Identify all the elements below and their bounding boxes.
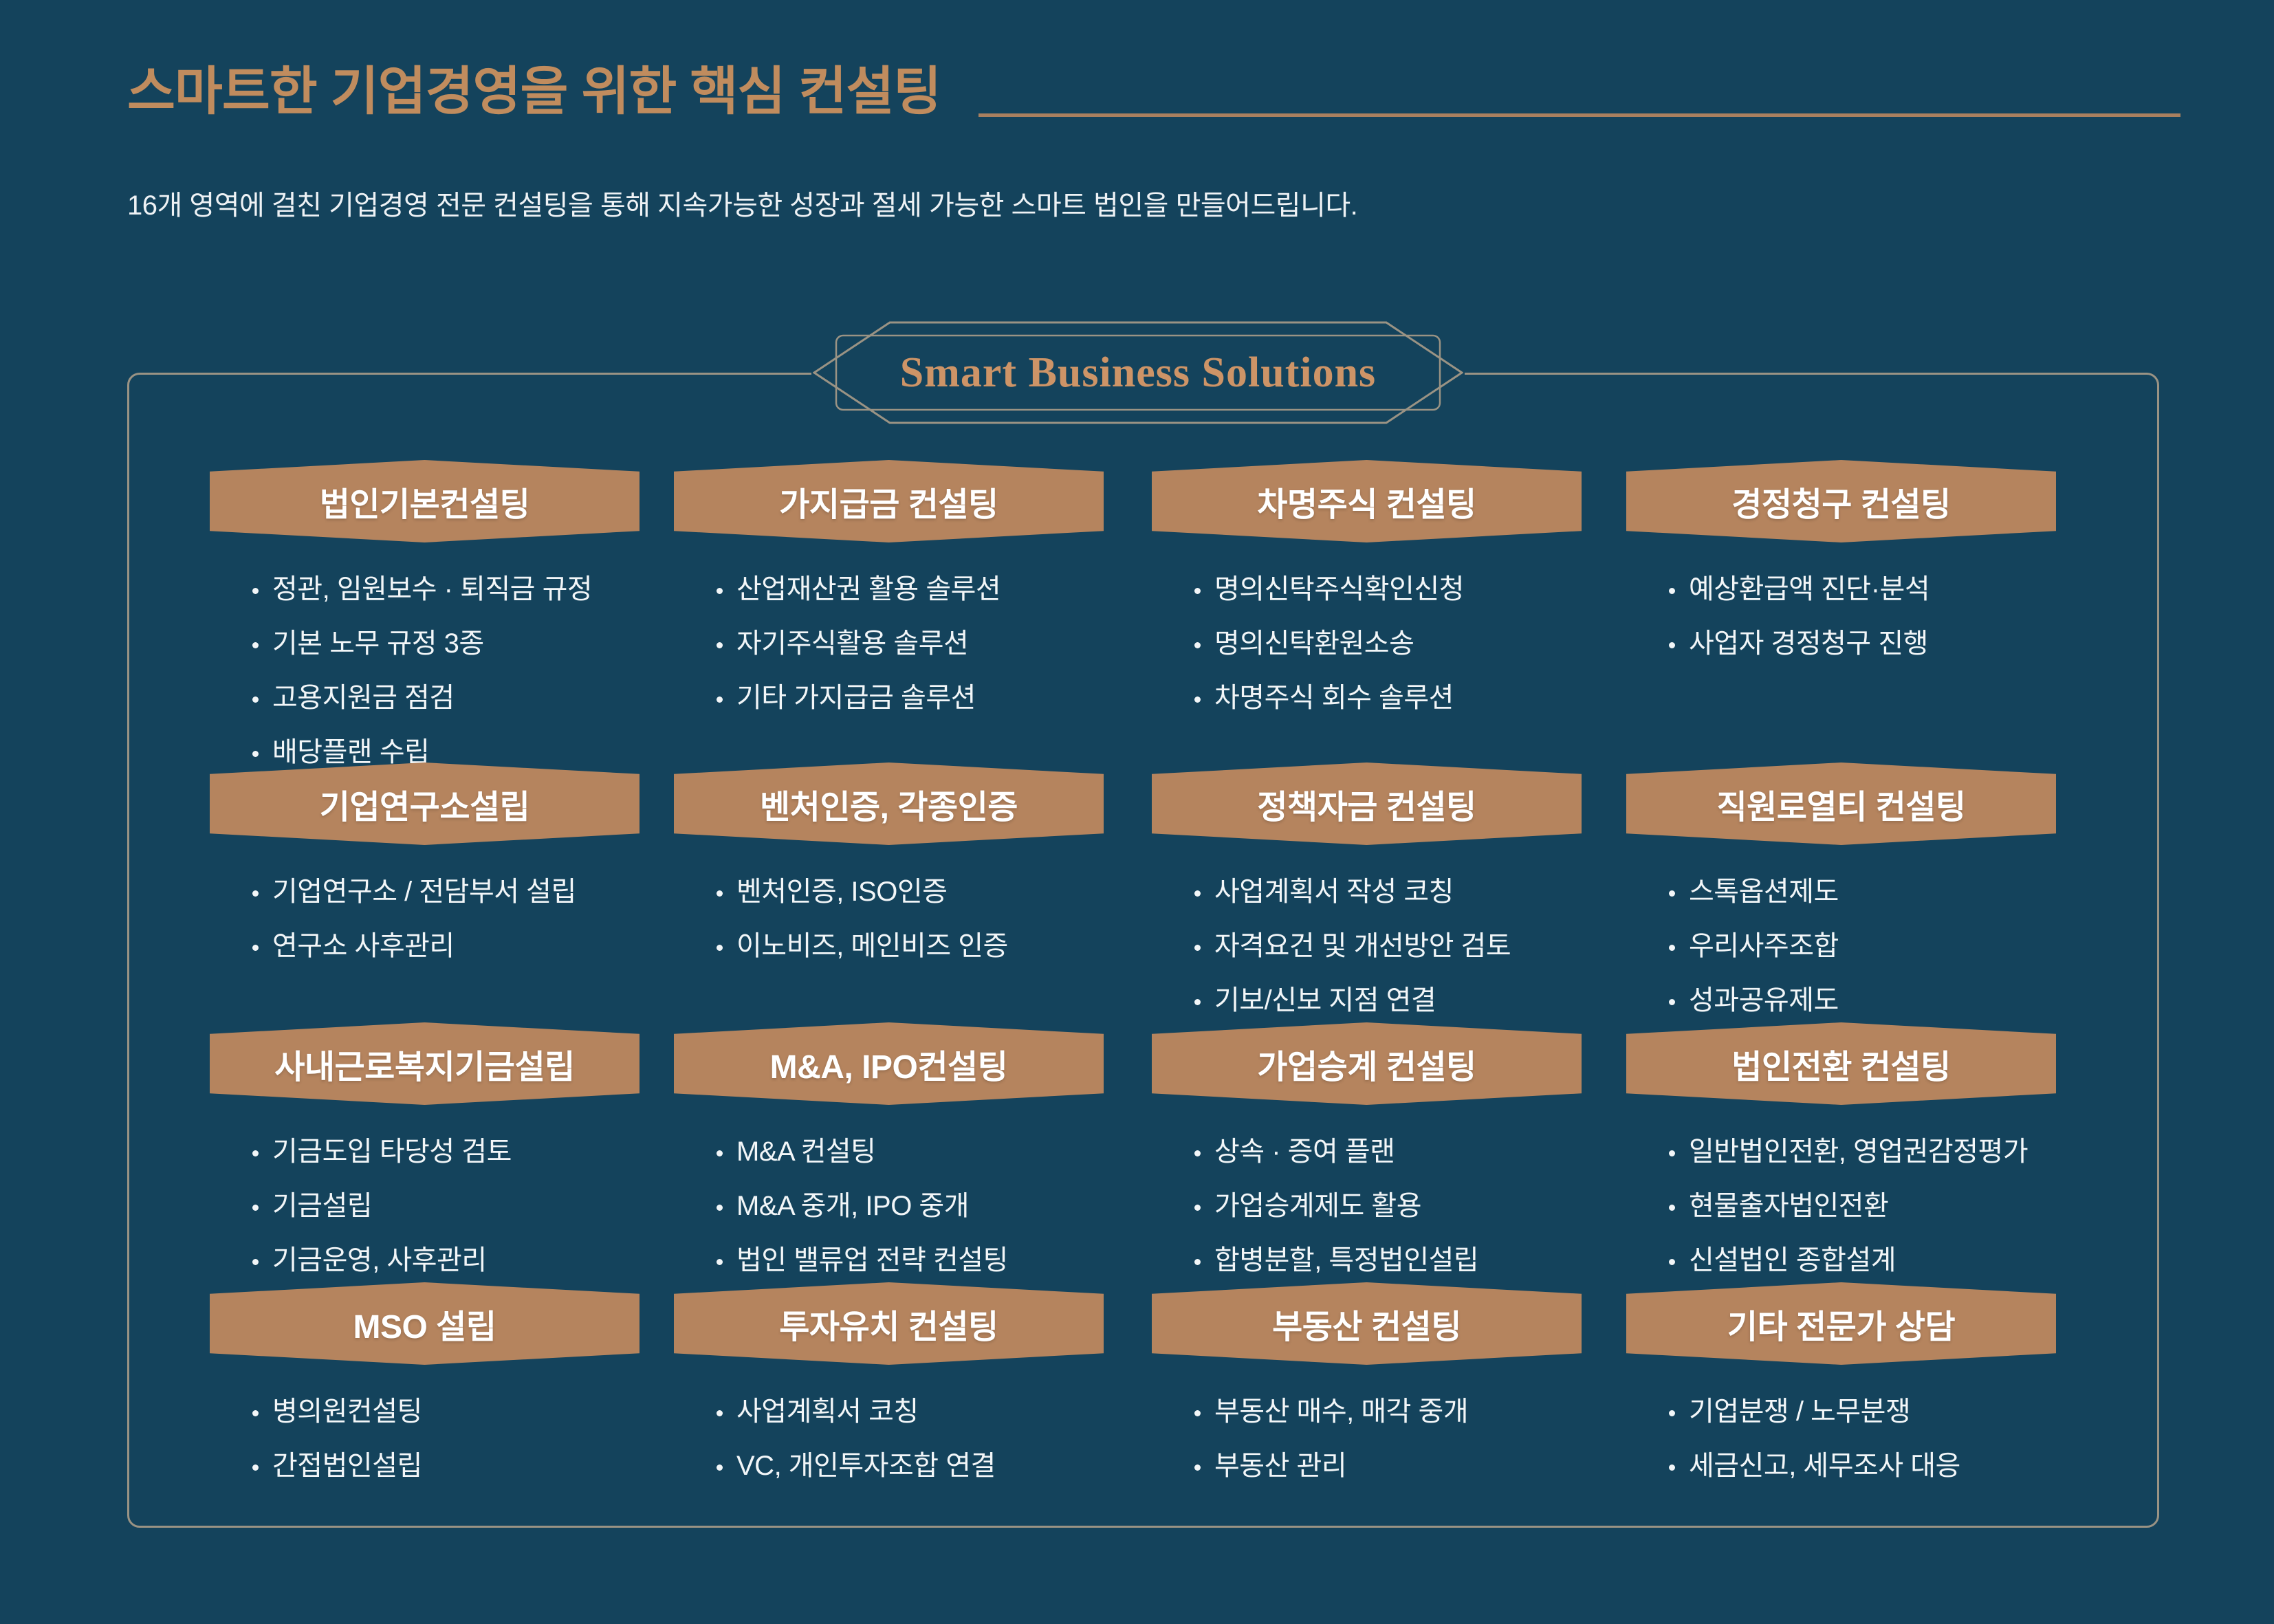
bullet-dot-icon [1669,890,1675,897]
list-item-label: 명의신탁환원소송 [1214,630,1414,657]
bullet-dot-icon [252,890,259,897]
services-grid: 법인기본컨설팅 정관, 임원보수 · 퇴직금 규정 기본 노무 규정 3종 고용… [127,373,2159,1528]
list-item-label: 정관, 임원보수 · 퇴직금 규정 [272,575,592,603]
list-item-label: 연구소 사후관리 [272,932,455,960]
service-card-banner: 법인전환 컨설팅 [1626,1022,2056,1105]
bullet-dot-icon [252,642,259,648]
consulting-services-infographic: 스마트한 기업경영을 위한 핵심 컨설팅 16개 영역에 걸친 기업경영 전문 … [0,0,2274,1624]
list-item: 기업연구소 / 전담부서 설립 [252,878,691,906]
list-item: 기금설립 [252,1192,691,1220]
list-item: 기보/신보 지점 연결 [1194,987,1633,1014]
list-item: 기업분쟁 / 노무분쟁 [1669,1398,2108,1425]
list-item: 정관, 임원보수 · 퇴직금 규정 [252,575,691,603]
list-item: 자기주식활용 솔루션 [717,630,1155,657]
service-card[interactable]: 사내근로복지기금설립 기금도입 타당성 검토 기금설립 기금운영, 사후관리 [210,1022,691,1301]
service-card-banner: 벤처인증, 각종인증 [674,762,1104,845]
service-card-banner: 기타 전문가 상담 [1626,1282,2056,1365]
service-card[interactable]: 부동산 컨설팅 부동산 매수, 매각 중개 부동산 관리 [1152,1282,1633,1506]
service-card-items: 예상환급액 진단·분석 사업자 경정청구 진행 [1669,575,2108,657]
service-card-title: MSO 설립 [353,1299,496,1348]
service-card-banner: 투자유치 컨설팅 [674,1282,1104,1365]
bullet-dot-icon [252,1205,259,1211]
list-item-label: 자격요건 및 개선방안 검토 [1214,932,1511,960]
bullet-dot-icon [1194,945,1201,951]
bullet-dot-icon [1194,696,1201,703]
bullet-dot-icon [252,588,259,594]
list-item: 기타 가지급금 솔루션 [717,684,1155,712]
service-card-title: 정책자금 컨설팅 [1257,780,1476,828]
service-card-title: 가지급금 컨설팅 [779,477,998,525]
bullet-dot-icon [1194,999,1201,1005]
list-item-label: 스톡옵션제도 [1689,878,1839,906]
service-card-items: 일반법인전환, 영업권감정평가 현물출자법인전환 신설법인 종합설계 [1669,1138,2108,1274]
bullet-dot-icon [717,642,723,648]
list-item-label: 벤처인증, ISO인증 [736,878,947,906]
bullet-dot-icon [1194,1205,1201,1211]
list-item: 법인 밸류업 전략 컨설팅 [717,1247,1155,1274]
bullet-dot-icon [717,588,723,594]
list-item-label: 기본 노무 규정 3종 [272,630,484,657]
page-title: 스마트한 기업경영을 위한 핵심 컨설팅 [127,61,941,123]
list-item: 사업계획서 작성 코칭 [1194,878,1633,906]
list-item-label: 자기주식활용 솔루션 [736,630,968,657]
service-card-items: 사업계획서 작성 코칭 자격요건 및 개선방안 검토 기보/신보 지점 연결 [1194,878,1633,1014]
service-card[interactable]: 법인기본컨설팅 정관, 임원보수 · 퇴직금 규정 기본 노무 규정 3종 고용… [210,460,691,793]
list-item-label: 부동산 관리 [1214,1452,1346,1480]
list-item: 가업승계제도 활용 [1194,1192,1633,1220]
list-item: 벤처인증, ISO인증 [717,878,1155,906]
list-item: 고용지원금 점검 [252,684,691,712]
list-item: 사업자 경정청구 진행 [1669,630,2108,657]
list-item-label: 기업연구소 / 전담부서 설립 [272,878,576,906]
service-card[interactable]: 가지급금 컨설팅 산업재산권 활용 솔루션 자기주식활용 솔루션 기타 가지급금… [674,460,1155,738]
list-item-label: 법인 밸류업 전략 컨설팅 [736,1247,1008,1274]
list-item: 연구소 사후관리 [252,932,691,960]
bullet-dot-icon [717,945,723,951]
service-card-banner: 가업승계 컨설팅 [1152,1022,1582,1105]
list-item-label: M&A 컨설팅 [736,1138,876,1165]
list-item: 부동산 관리 [1194,1452,1633,1480]
service-card-banner: 차명주식 컨설팅 [1152,460,1582,542]
list-item-label: 가업승계제도 활용 [1214,1192,1421,1220]
list-item-label: 배당플랜 수립 [272,738,429,766]
service-card-title: 벤처인증, 각종인증 [760,780,1018,828]
title-rule-divider [979,113,2180,117]
bullet-dot-icon [1194,890,1201,897]
service-card-banner: MSO 설립 [210,1282,639,1365]
service-card-title: 가업승계 컨설팅 [1257,1040,1476,1088]
service-card-title: 부동산 컨설팅 [1272,1299,1461,1348]
service-card[interactable]: 직원로열티 컨설팅 스톡옵션제도 우리사주조합 성과공유제도 [1626,762,2108,1041]
list-item: 성과공유제도 [1669,987,2108,1014]
list-item: 병의원컨설팅 [252,1398,691,1425]
list-item-label: 기금운영, 사후관리 [272,1247,487,1274]
service-card-banner: 정책자금 컨설팅 [1152,762,1582,845]
service-card[interactable]: 차명주식 컨설팅 명의신탁주식확인신청 명의신탁환원소송 차명주식 회수 솔루션 [1152,460,1633,738]
list-item-label: 우리사주조합 [1689,932,1839,960]
service-card-items: 명의신탁주식확인신청 명의신탁환원소송 차명주식 회수 솔루션 [1194,575,1633,712]
list-item-label: 일반법인전환, 영업권감정평가 [1689,1138,2028,1165]
list-item: 스톡옵션제도 [1669,878,2108,906]
bullet-dot-icon [1669,945,1675,951]
bullet-dot-icon [717,890,723,897]
list-item-label: 고용지원금 점검 [272,684,455,712]
bullet-dot-icon [1669,588,1675,594]
service-card[interactable]: 벤처인증, 각종인증 벤처인증, ISO인증 이노비즈, 메인비즈 인증 [674,762,1155,987]
list-item-label: 신설법인 종합설계 [1689,1247,1896,1274]
list-item: 상속 · 증여 플랜 [1194,1138,1633,1165]
list-item: M&A 중개, IPO 중개 [717,1192,1155,1220]
list-item-label: 산업재산권 활용 솔루션 [736,575,1001,603]
service-card-items: 상속 · 증여 플랜 가업승계제도 활용 합병분할, 특정법인설립 [1194,1138,1633,1274]
service-card-title: 기업연구소설립 [320,780,530,828]
service-card-items: 벤처인증, ISO인증 이노비즈, 메인비즈 인증 [717,878,1155,960]
service-card[interactable]: 가업승계 컨설팅 상속 · 증여 플랜 가업승계제도 활용 합병분할, 특정법인… [1152,1022,1633,1301]
list-item: 기본 노무 규정 3종 [252,630,691,657]
bullet-dot-icon [717,1464,723,1471]
service-card[interactable]: 기타 전문가 상담 기업분쟁 / 노무분쟁 세금신고, 세무조사 대응 [1626,1282,2108,1506]
list-item-label: 현물출자법인전환 [1689,1192,1888,1220]
service-card-items: 부동산 매수, 매각 중개 부동산 관리 [1194,1398,1633,1480]
service-card[interactable]: 법인전환 컨설팅 일반법인전환, 영업권감정평가 현물출자법인전환 신설법인 종… [1626,1022,2108,1301]
header: 스마트한 기업경영을 위한 핵심 컨설팅 16개 영역에 걸친 기업경영 전문 … [127,61,2183,184]
list-item: 사업계획서 코칭 [717,1398,1155,1425]
list-item-label: 명의신탁주식확인신청 [1214,575,1464,603]
service-card-banner: 기업연구소설립 [210,762,639,845]
list-item-label: VC, 개인투자조합 연결 [736,1452,996,1480]
service-card-items: M&A 컨설팅 M&A 중개, IPO 중개 법인 밸류업 전략 컨설팅 [717,1138,1155,1274]
list-item: 배당플랜 수립 [252,738,691,766]
list-item: 간접법인설립 [252,1452,691,1480]
list-item-label: 차명주식 회수 솔루션 [1214,684,1454,712]
service-card-banner: M&A, IPO컨설팅 [674,1022,1104,1105]
bullet-dot-icon [252,1150,259,1156]
list-item-label: 기금설립 [272,1192,372,1220]
service-card-title: 기타 전문가 상담 [1727,1299,1955,1348]
list-item: 산업재산권 활용 솔루션 [717,575,1155,603]
list-item: 부동산 매수, 매각 중개 [1194,1398,1633,1425]
bullet-dot-icon [717,1410,723,1416]
service-card-title: M&A, IPO컨설팅 [770,1040,1008,1088]
bullet-dot-icon [252,1259,259,1265]
service-card[interactable]: 투자유치 컨설팅 사업계획서 코칭 VC, 개인투자조합 연결 [674,1282,1155,1506]
service-card-items: 기업분쟁 / 노무분쟁 세금신고, 세무조사 대응 [1669,1398,2108,1480]
list-item-label: 이노비즈, 메인비즈 인증 [736,932,1008,960]
bullet-dot-icon [1194,1410,1201,1416]
bullet-dot-icon [1194,588,1201,594]
bullet-dot-icon [1194,642,1201,648]
bullet-dot-icon [717,1150,723,1156]
list-item-label: 예상환급액 진단·분석 [1689,575,1929,603]
list-item: 이노비즈, 메인비즈 인증 [717,932,1155,960]
service-card[interactable]: 기업연구소설립 기업연구소 / 전담부서 설립 연구소 사후관리 [210,762,691,987]
service-card-items: 병의원컨설팅 간접법인설립 [252,1398,691,1480]
service-card-banner: 사내근로복지기금설립 [210,1022,639,1105]
list-item: 합병분할, 특정법인설립 [1194,1247,1633,1274]
bullet-dot-icon [1669,1464,1675,1471]
list-item-label: 기보/신보 지점 연결 [1214,987,1436,1014]
service-card[interactable]: MSO 설립 병의원컨설팅 간접법인설립 [210,1282,691,1506]
bullet-dot-icon [1194,1150,1201,1156]
list-item: VC, 개인투자조합 연결 [717,1452,1155,1480]
list-item-label: 상속 · 증여 플랜 [1214,1138,1395,1165]
bullet-dot-icon [1194,1259,1201,1265]
bullet-dot-icon [717,696,723,703]
list-item-label: 기금도입 타당성 검토 [272,1138,512,1165]
service-card-banner: 가지급금 컨설팅 [674,460,1104,542]
service-card-title: 법인기본컨설팅 [320,477,530,525]
service-card-title: 사내근로복지기금설립 [274,1040,575,1088]
list-item-label: 사업자 경정청구 진행 [1689,630,1928,657]
list-item-label: 사업계획서 코칭 [736,1398,919,1425]
list-item-label: 기타 가지급금 솔루션 [736,684,976,712]
service-card-items: 스톡옵션제도 우리사주조합 성과공유제도 [1669,878,2108,1014]
list-item: 세금신고, 세무조사 대응 [1669,1452,2108,1480]
service-card-banner: 경정청구 컨설팅 [1626,460,2056,542]
bullet-dot-icon [1194,1464,1201,1471]
service-card-items: 기금도입 타당성 검토 기금설립 기금운영, 사후관리 [252,1138,691,1274]
list-item-label: 간접법인설립 [272,1452,422,1480]
service-card[interactable]: 경정청구 컨설팅 예상환급액 진단·분석 사업자 경정청구 진행 [1626,460,2108,684]
list-item-label: 합병분할, 특정법인설립 [1214,1247,1478,1274]
list-item: 명의신탁주식확인신청 [1194,575,1633,603]
service-card-banner: 직원로열티 컨설팅 [1626,762,2056,845]
bullet-dot-icon [252,1410,259,1416]
service-card-items: 기업연구소 / 전담부서 설립 연구소 사후관리 [252,878,691,960]
service-card-title: 경정청구 컨설팅 [1731,477,1950,525]
bullet-dot-icon [252,945,259,951]
list-item-label: 성과공유제도 [1689,987,1839,1014]
list-item: 일반법인전환, 영업권감정평가 [1669,1138,2108,1165]
list-item: 기금도입 타당성 검토 [252,1138,691,1165]
service-card-banner: 법인기본컨설팅 [210,460,639,542]
bullet-dot-icon [1669,1410,1675,1416]
service-card-banner: 부동산 컨설팅 [1152,1282,1582,1365]
bullet-dot-icon [717,1205,723,1211]
list-item-label: M&A 중개, IPO 중개 [736,1192,969,1220]
list-item-label: 부동산 매수, 매각 중개 [1214,1398,1468,1425]
list-item-label: 기업분쟁 / 노무분쟁 [1689,1398,1910,1425]
bullet-dot-icon [1669,1259,1675,1265]
service-card-items: 산업재산권 활용 솔루션 자기주식활용 솔루션 기타 가지급금 솔루션 [717,575,1155,712]
bullet-dot-icon [252,751,259,757]
list-item: 신설법인 종합설계 [1669,1247,2108,1274]
bullet-dot-icon [717,1259,723,1265]
service-card-title: 법인전환 컨설팅 [1731,1040,1950,1088]
bullet-dot-icon [1669,1150,1675,1156]
service-card-items: 정관, 임원보수 · 퇴직금 규정 기본 노무 규정 3종 고용지원금 점검 배… [252,575,691,766]
list-item: 예상환급액 진단·분석 [1669,575,2108,603]
service-card-items: 사업계획서 코칭 VC, 개인투자조합 연결 [717,1398,1155,1480]
list-item-label: 사업계획서 작성 코칭 [1214,878,1454,906]
list-item: 우리사주조합 [1669,932,2108,960]
list-item: M&A 컨설팅 [717,1138,1155,1165]
list-item: 명의신탁환원소송 [1194,630,1633,657]
list-item-label: 세금신고, 세무조사 대응 [1689,1452,1960,1480]
service-card-title: 차명주식 컨설팅 [1257,477,1476,525]
bullet-dot-icon [252,696,259,703]
bullet-dot-icon [252,1464,259,1471]
bullet-dot-icon [1669,1205,1675,1211]
service-card-title: 투자유치 컨설팅 [779,1299,998,1348]
service-card[interactable]: 정책자금 컨설팅 사업계획서 작성 코칭 자격요건 및 개선방안 검토 기보/신… [1152,762,1633,1041]
list-item: 자격요건 및 개선방안 검토 [1194,932,1633,960]
bullet-dot-icon [1669,642,1675,648]
bullet-dot-icon [1669,999,1675,1005]
service-card[interactable]: M&A, IPO컨설팅 M&A 컨설팅 M&A 중개, IPO 중개 법인 밸류… [674,1022,1155,1301]
list-item: 기금운영, 사후관리 [252,1247,691,1274]
list-item: 차명주식 회수 솔루션 [1194,684,1633,712]
list-item: 현물출자법인전환 [1669,1192,2108,1220]
page-subtitle: 16개 영역에 걸친 기업경영 전문 컨설팅을 통해 지속가능한 성장과 절세 … [127,183,1357,223]
service-card-title: 직원로열티 컨설팅 [1716,780,1965,828]
list-item-label: 병의원컨설팅 [272,1398,422,1425]
